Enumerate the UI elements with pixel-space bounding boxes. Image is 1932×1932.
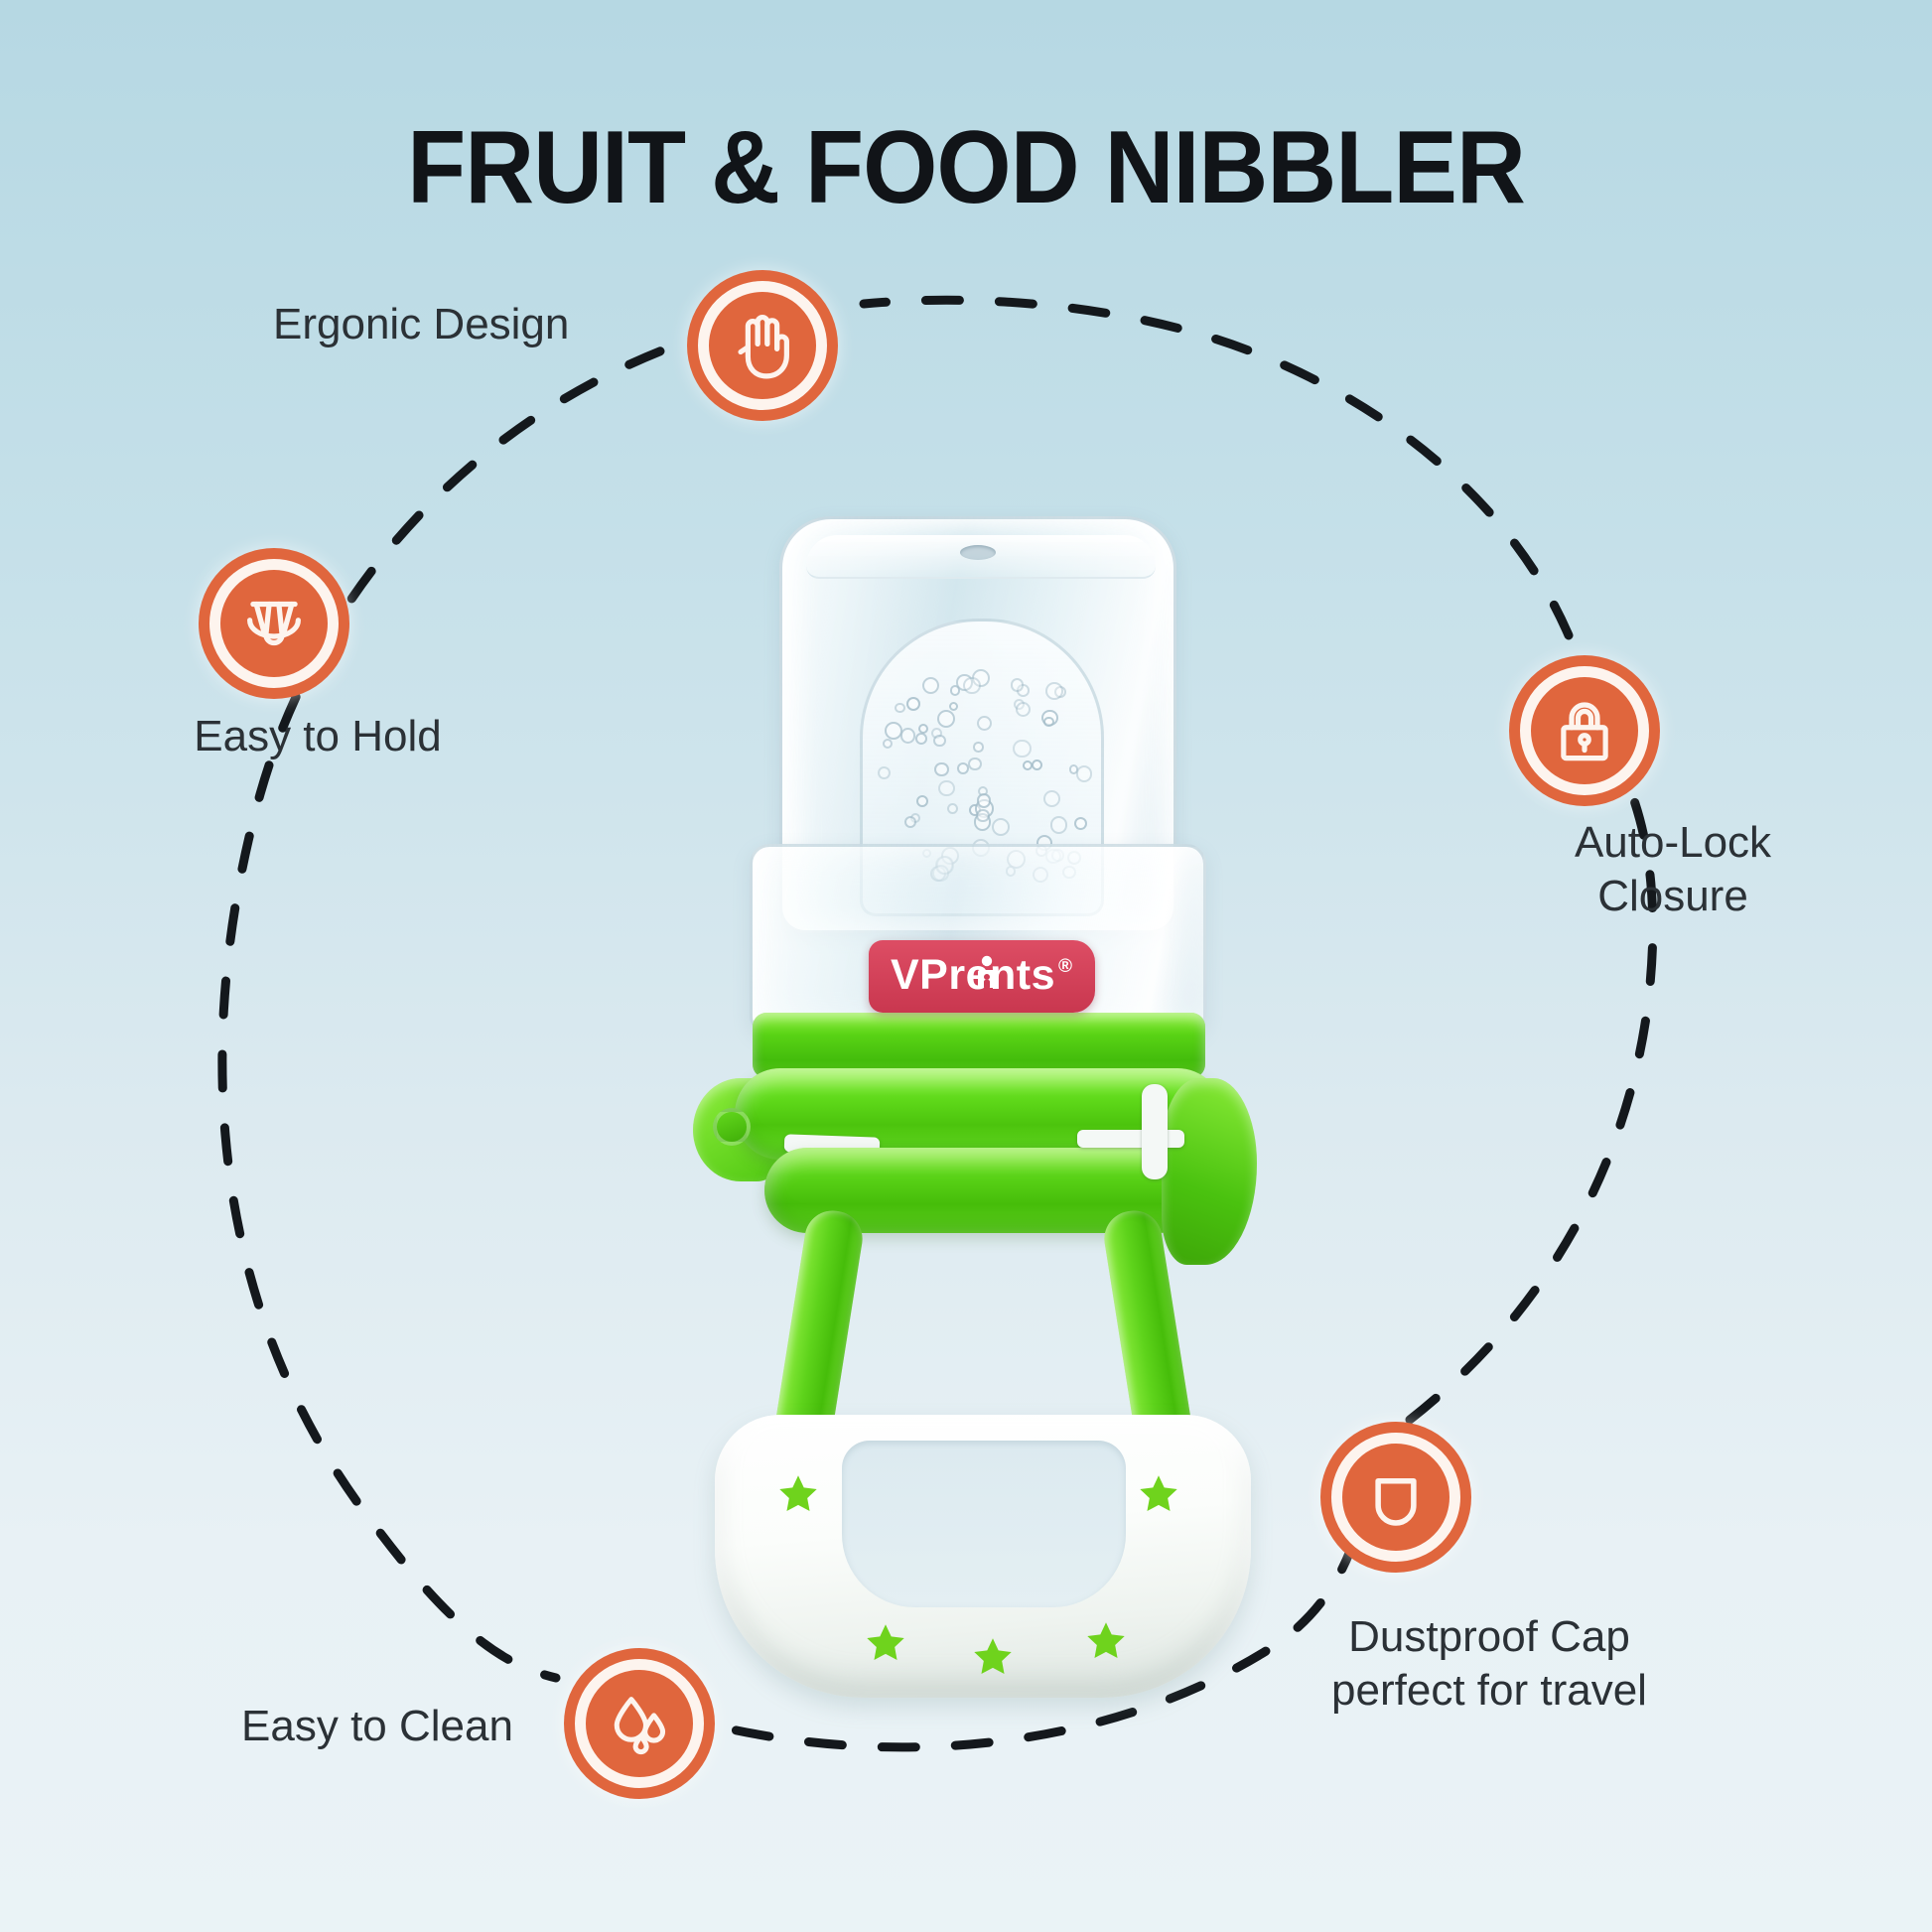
nipple-perforation (1023, 760, 1033, 770)
handle-star-decoration (864, 1621, 907, 1665)
nipple-perforation (878, 766, 891, 779)
grip-handle-icon (235, 585, 313, 662)
nipple-perforation (1032, 759, 1042, 770)
nipple-perforation (950, 685, 961, 696)
brand-text-after: rents (948, 951, 1055, 1000)
nipple-perforation (1045, 682, 1063, 700)
nipple-perforation (1076, 765, 1093, 782)
nipple-perforation (918, 724, 928, 734)
feature-label-dustproof-cap: Dustproof Cap perfect for travel (1271, 1610, 1708, 1717)
feature-label-ergonomic-design: Ergonic Design (273, 298, 569, 351)
nipple-perforation (883, 739, 894, 750)
feature-badge-auto-lock-closure[interactable] (1509, 655, 1660, 806)
nipple-perforation (977, 793, 991, 807)
nipple-perforation (1050, 816, 1067, 833)
auto-lock-latch-hook (1162, 1078, 1257, 1265)
handle-star-decoration (776, 1472, 820, 1516)
feature-label-easy-to-clean: Easy to Clean (159, 1700, 596, 1753)
feature-badge-ergonomic-design[interactable] (687, 270, 838, 421)
nipple-perforation (963, 677, 980, 694)
handle-star-decoration (1137, 1472, 1180, 1516)
water-drops-icon (601, 1685, 678, 1762)
brand-logo-vparents: VPrents® (869, 940, 1095, 1013)
nipple-perforation (906, 697, 920, 711)
nipple-perforation (937, 710, 955, 728)
brand-text-before: VP (891, 951, 948, 1000)
nipple-perforation (973, 742, 983, 752)
nipple-perforation (938, 780, 954, 796)
nipple-perforation (992, 818, 1010, 836)
cap-vent-hole (960, 545, 996, 560)
nipple-perforation (933, 735, 945, 747)
nipple-perforation (934, 762, 948, 776)
product-image-nibbler: VPrents® (625, 516, 1340, 1569)
latch-white-insert (1142, 1084, 1168, 1179)
nipple-perforation (895, 703, 905, 714)
feature-badge-easy-to-hold[interactable] (199, 548, 349, 699)
feature-label-auto-lock-closure: Auto-Lock Closure (1454, 816, 1891, 922)
handle-star-decoration (1084, 1619, 1128, 1663)
nipple-perforation (1074, 817, 1087, 830)
nipple-perforation (915, 733, 927, 745)
handle-star-decoration (971, 1635, 1015, 1679)
handle-inner-opening (842, 1441, 1126, 1607)
feature-label-easy-to-hold: Easy to Hold (99, 710, 536, 763)
nipple-perforation (1013, 740, 1032, 759)
nipple-perforation (1011, 678, 1024, 691)
nipple-perforation (1043, 790, 1060, 807)
feature-badge-dustproof-cap[interactable] (1320, 1422, 1471, 1573)
nipple-perforation (1043, 717, 1053, 727)
nipple-perforation (916, 795, 928, 807)
nipple-perforation (1016, 702, 1031, 717)
padlock-icon (1546, 692, 1623, 769)
nipple-perforation (900, 728, 916, 744)
cap-cup-icon (1357, 1458, 1435, 1536)
clamp-white-tab-right (1077, 1130, 1184, 1148)
clamp-pivot-dot (713, 1108, 751, 1146)
parent-child-figure-icon (976, 954, 998, 994)
nipple-perforation (949, 702, 958, 711)
nipple-perforation (968, 758, 981, 770)
nipple-perforation (922, 677, 939, 694)
nipple-perforation (947, 803, 958, 814)
nipple-perforation (977, 716, 992, 731)
registered-mark: ® (1058, 956, 1073, 978)
nipple-perforation (904, 816, 916, 828)
teething-handle (715, 1415, 1251, 1698)
hand-icon (724, 307, 801, 384)
nipple-perforation (976, 809, 989, 822)
